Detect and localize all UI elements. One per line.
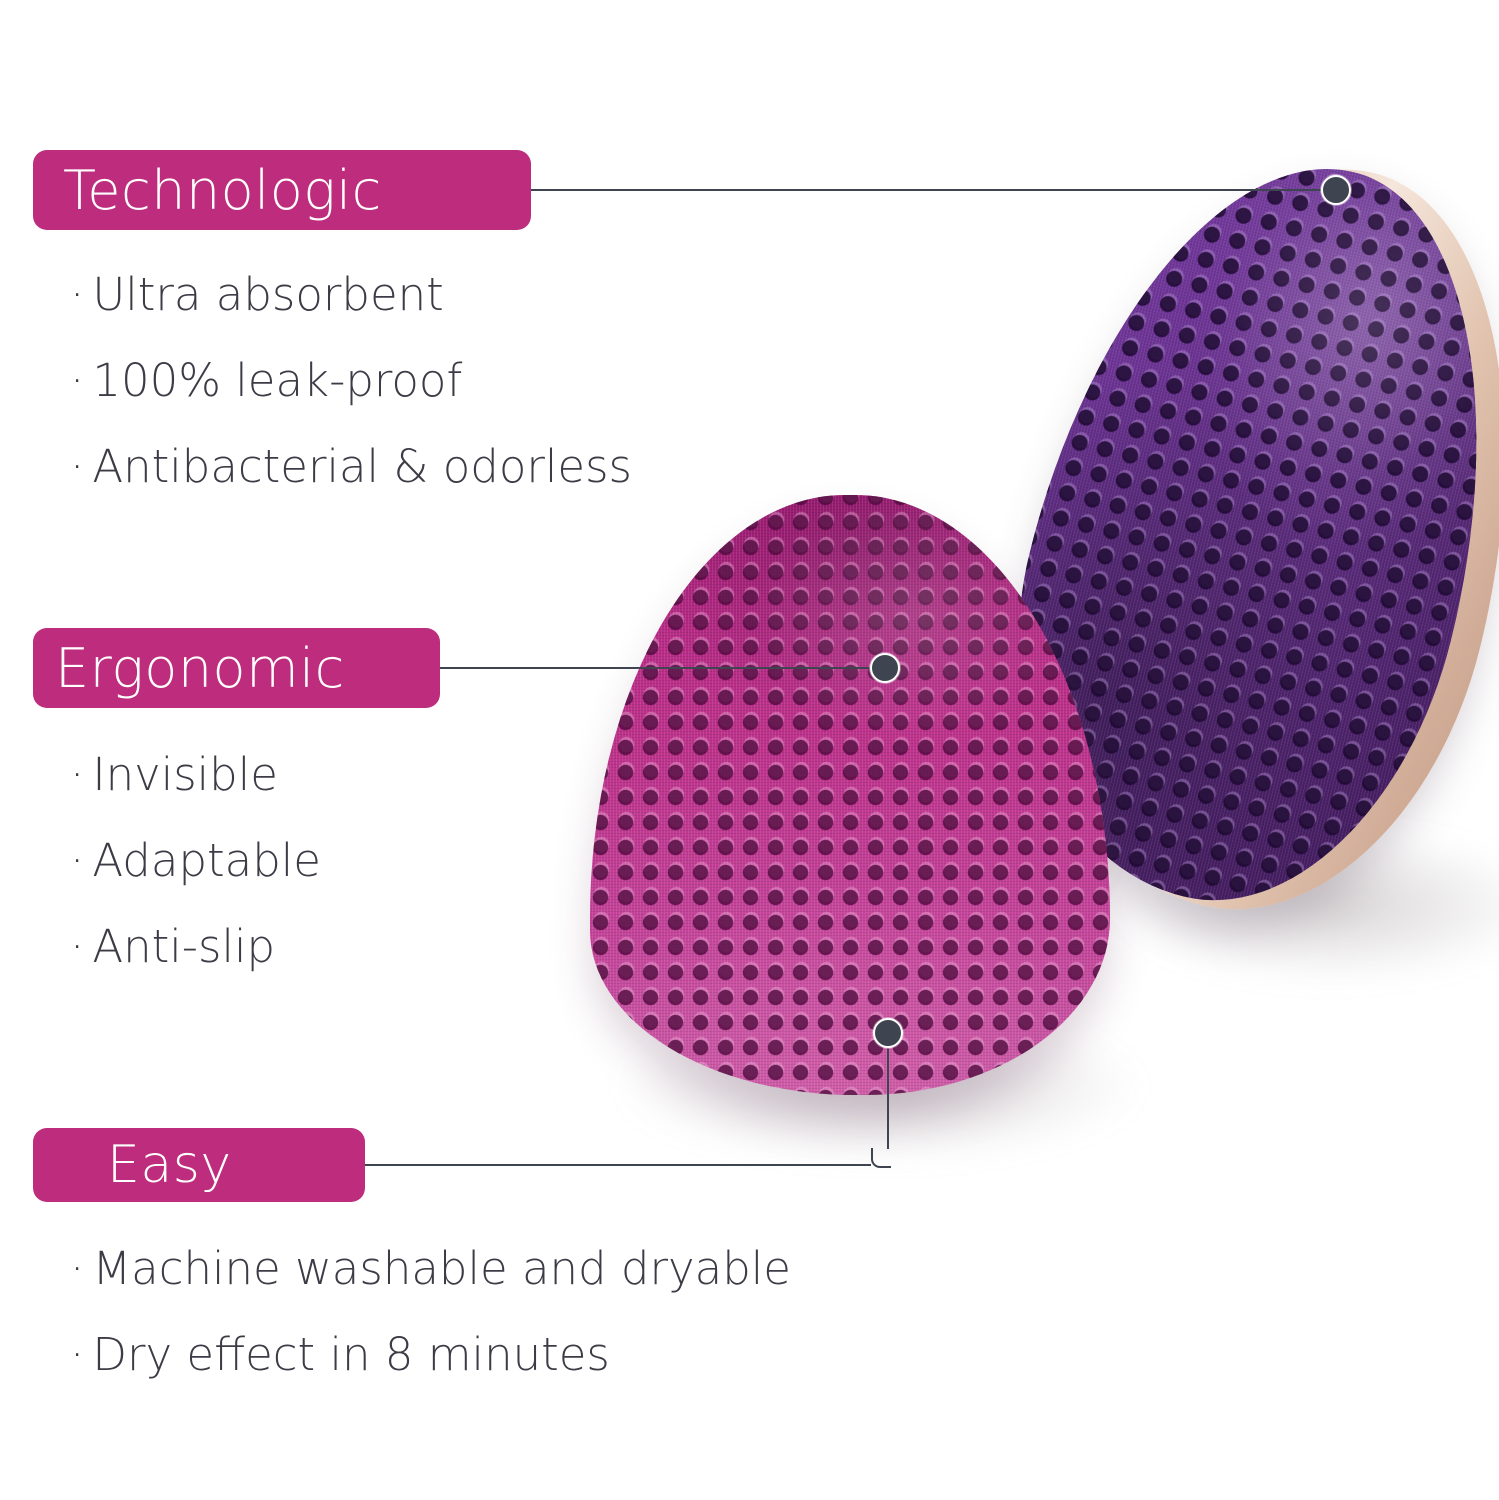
list-item-label: Dry effect in 8 minutes <box>92 1312 610 1398</box>
bullet-point-icon: · <box>70 1246 84 1291</box>
badge-ergonomic-label: Ergonomic <box>55 637 345 700</box>
list-item-label: Adaptable <box>92 818 321 904</box>
connector-line-easy-vertical <box>887 1043 889 1149</box>
bullet-point-icon: · <box>70 358 84 403</box>
list-item: · Invisible <box>70 732 321 818</box>
bullet-point-icon: · <box>70 1332 84 1377</box>
connector-line-easy-horizontal <box>365 1164 871 1166</box>
list-item: · Anti-slip <box>70 904 321 990</box>
badge-easy-label: Easy <box>107 1135 232 1195</box>
list-item: · Ultra absorbent <box>70 252 632 338</box>
bullet-point-icon: · <box>70 444 84 489</box>
pink-pad-face <box>590 495 1110 1095</box>
list-item: · Adaptable <box>70 818 321 904</box>
bullet-point-icon: · <box>70 752 84 797</box>
bullet-list-ergonomic: · Invisible · Adaptable · Anti-slip <box>70 732 321 990</box>
connector-line-technologic <box>531 189 1336 191</box>
badge-easy[interactable]: Easy <box>33 1128 365 1202</box>
bullet-point-icon: · <box>70 838 84 883</box>
callout-node-easy <box>873 1018 903 1048</box>
connector-corner-easy <box>871 1148 891 1168</box>
bullet-point-icon: · <box>70 272 84 317</box>
bullet-list-easy: · Machine washable and dryable · Dry eff… <box>70 1226 791 1398</box>
badge-ergonomic[interactable]: Ergonomic <box>33 628 440 708</box>
list-item: · 100% leak-proof <box>70 338 632 424</box>
callout-node-technologic <box>1321 175 1351 205</box>
list-item-label: Ultra absorbent <box>92 252 444 338</box>
product-pink-pad <box>590 495 1110 1095</box>
list-item: · Machine washable and dryable <box>70 1226 791 1312</box>
connector-line-ergonomic <box>440 667 885 669</box>
bullet-point-icon: · <box>70 924 84 969</box>
list-item-label: Invisible <box>92 732 278 818</box>
infographic-canvas: Technologic · Ultra absorbent · 100% lea… <box>0 0 1499 1500</box>
list-item-label: 100% leak-proof <box>92 338 462 424</box>
list-item: · Dry effect in 8 minutes <box>70 1312 791 1398</box>
callout-node-ergonomic <box>870 653 900 683</box>
list-item-label: Antibacterial & odorless <box>92 424 632 510</box>
list-item: · Antibacterial & odorless <box>70 424 632 510</box>
badge-technologic[interactable]: Technologic <box>33 150 531 230</box>
list-item-label: Anti-slip <box>92 904 275 990</box>
badge-technologic-label: Technologic <box>63 159 382 222</box>
bullet-list-technologic: · Ultra absorbent · 100% leak-proof · An… <box>70 252 632 510</box>
list-item-label: Machine washable and dryable <box>92 1226 791 1312</box>
